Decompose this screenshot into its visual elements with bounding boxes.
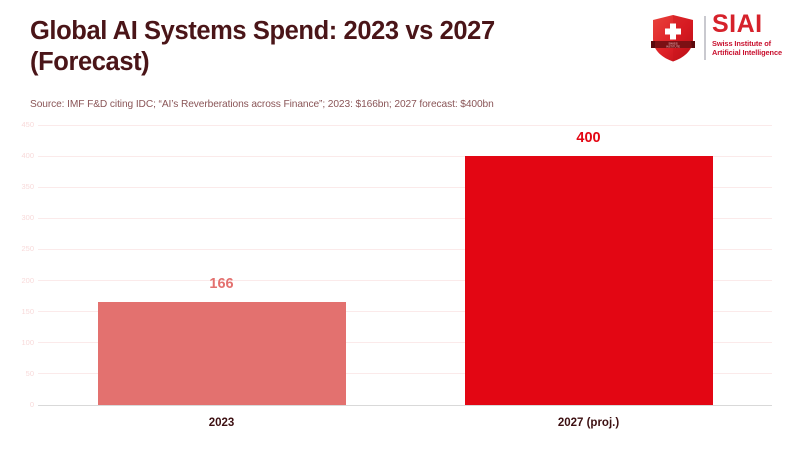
slide-canvas: Global AI Systems Spend: 2023 vs 2027 (F… [0, 0, 800, 450]
y-axis-tick-label: 50 [8, 370, 34, 378]
y-axis-tick-label: 300 [8, 214, 34, 222]
y-axis-tick-label: 150 [8, 308, 34, 316]
bar-2027-proj-[interactable] [465, 156, 713, 405]
y-axis-tick-label: 0 [8, 401, 34, 409]
x-axis-category-label: 2023 [38, 418, 405, 430]
bar-value-label: 400 [465, 131, 713, 146]
y-axis-tick-label: 100 [8, 339, 34, 347]
y-axis-tick-label: 350 [8, 183, 34, 191]
gridline [38, 125, 772, 126]
y-axis-tick-label: 200 [8, 277, 34, 285]
bar-chart-plot: 050100150200250300350400450 166202340020… [0, 0, 800, 450]
bar-2023[interactable] [98, 302, 346, 405]
y-axis-tick-label: 400 [8, 152, 34, 160]
y-axis-tick-label: 250 [8, 245, 34, 253]
bar-value-label: 166 [98, 277, 346, 292]
x-axis-category-label: 2027 (proj.) [405, 418, 772, 430]
y-axis-tick-label: 450 [8, 121, 34, 129]
